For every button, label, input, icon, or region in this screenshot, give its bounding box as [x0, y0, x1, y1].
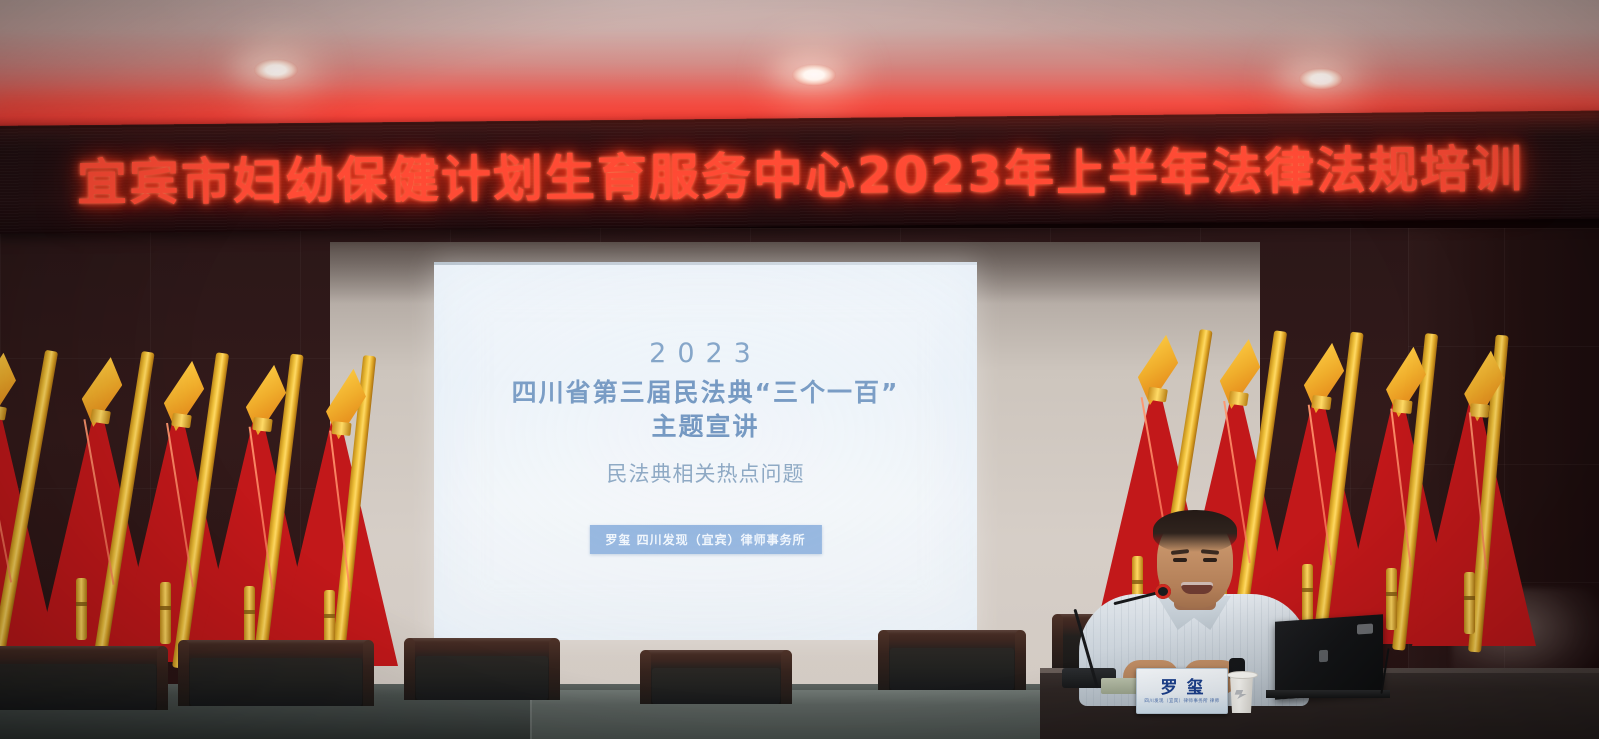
nameplate-org: 四川发现（宜宾）律师事务所 律师	[1144, 698, 1219, 705]
slide-title-line-2: 主题宣讲	[434, 410, 977, 444]
slide-title-line-1: 四川省第三届民法典“三个一百”	[434, 376, 977, 410]
chair-cushion	[416, 656, 548, 700]
chair	[640, 650, 792, 704]
paper-cup-rim	[1227, 671, 1258, 679]
chair	[0, 646, 168, 710]
chair	[878, 630, 1026, 690]
chair-arm	[781, 650, 792, 704]
flag-tassel	[1464, 572, 1475, 634]
chair-cushion	[652, 668, 780, 704]
pole-collar	[1392, 399, 1412, 414]
led-banner-text: 宜宾市妇幼保健计划生育服务中心2023年上半年法律法规培训	[0, 110, 1599, 234]
downlight-icon-3	[1299, 68, 1343, 90]
chair-arm	[640, 650, 651, 704]
speaker-eye	[1173, 558, 1187, 562]
desk-nameplate: 罗玺 四川发现（宜宾）律师事务所 律师	[1136, 668, 1228, 714]
chair	[404, 638, 560, 700]
laptop-badge-icon	[1357, 623, 1373, 634]
chair-arm	[404, 638, 415, 700]
flag-tassel	[160, 582, 171, 644]
pole-collar	[252, 417, 272, 432]
flag-tassel	[244, 586, 255, 648]
flag-tassel	[76, 578, 87, 640]
downlight-icon-2	[792, 64, 836, 86]
chair-cushion	[190, 658, 362, 706]
speaker-eye	[1203, 558, 1217, 562]
chair-arm	[363, 640, 374, 706]
slide-title: 四川省第三届民法典“三个一百” 主题宣讲	[434, 376, 977, 444]
chair-arm	[1015, 630, 1026, 690]
pole-collar	[331, 421, 351, 436]
conference-room-photo: 2023 四川省第三届民法典“三个一百” 主题宣讲 民法典相关热点问题 罗玺 四…	[0, 0, 1599, 739]
chair-arm	[157, 646, 168, 710]
flag-decor-left	[0, 228, 334, 698]
nameplate-name: 罗玺	[1152, 678, 1213, 698]
projection-screen: 2023 四川省第三届民法典“三个一百” 主题宣讲 民法典相关热点问题 罗玺 四…	[434, 262, 977, 640]
slide-subtitle: 民法典相关热点问题	[434, 458, 977, 488]
slide-credit-badge: 罗玺 四川发现（宜宾）律师事务所	[589, 525, 821, 554]
laptop-base	[1266, 690, 1390, 698]
pole-collar	[90, 409, 111, 425]
flag-tassel	[1386, 568, 1397, 630]
chair-arm	[178, 640, 189, 706]
slide-year: 2023	[434, 338, 977, 369]
speaker-hair	[1153, 510, 1237, 552]
led-banner: 宜宾市妇幼保健计划生育服务中心2023年上半年法律法规培训	[0, 110, 1599, 236]
chair-arm	[1052, 614, 1063, 676]
pole-collar	[1311, 395, 1331, 410]
laptop-logo-icon	[1319, 650, 1328, 663]
chair-cushion	[890, 648, 1014, 690]
conference-table-front-section	[530, 690, 1090, 739]
chair-cushion	[0, 664, 156, 710]
pole-collar	[171, 413, 192, 429]
pole-collar	[1228, 391, 1249, 407]
pole-collar	[1147, 387, 1168, 403]
microphone-icon	[1155, 584, 1171, 599]
chair-arm	[878, 630, 889, 690]
chair	[178, 640, 374, 706]
chair-arm	[549, 638, 560, 700]
speaker-mouth	[1181, 582, 1213, 594]
downlight-icon-1	[254, 59, 298, 81]
pole-collar	[1469, 403, 1489, 418]
